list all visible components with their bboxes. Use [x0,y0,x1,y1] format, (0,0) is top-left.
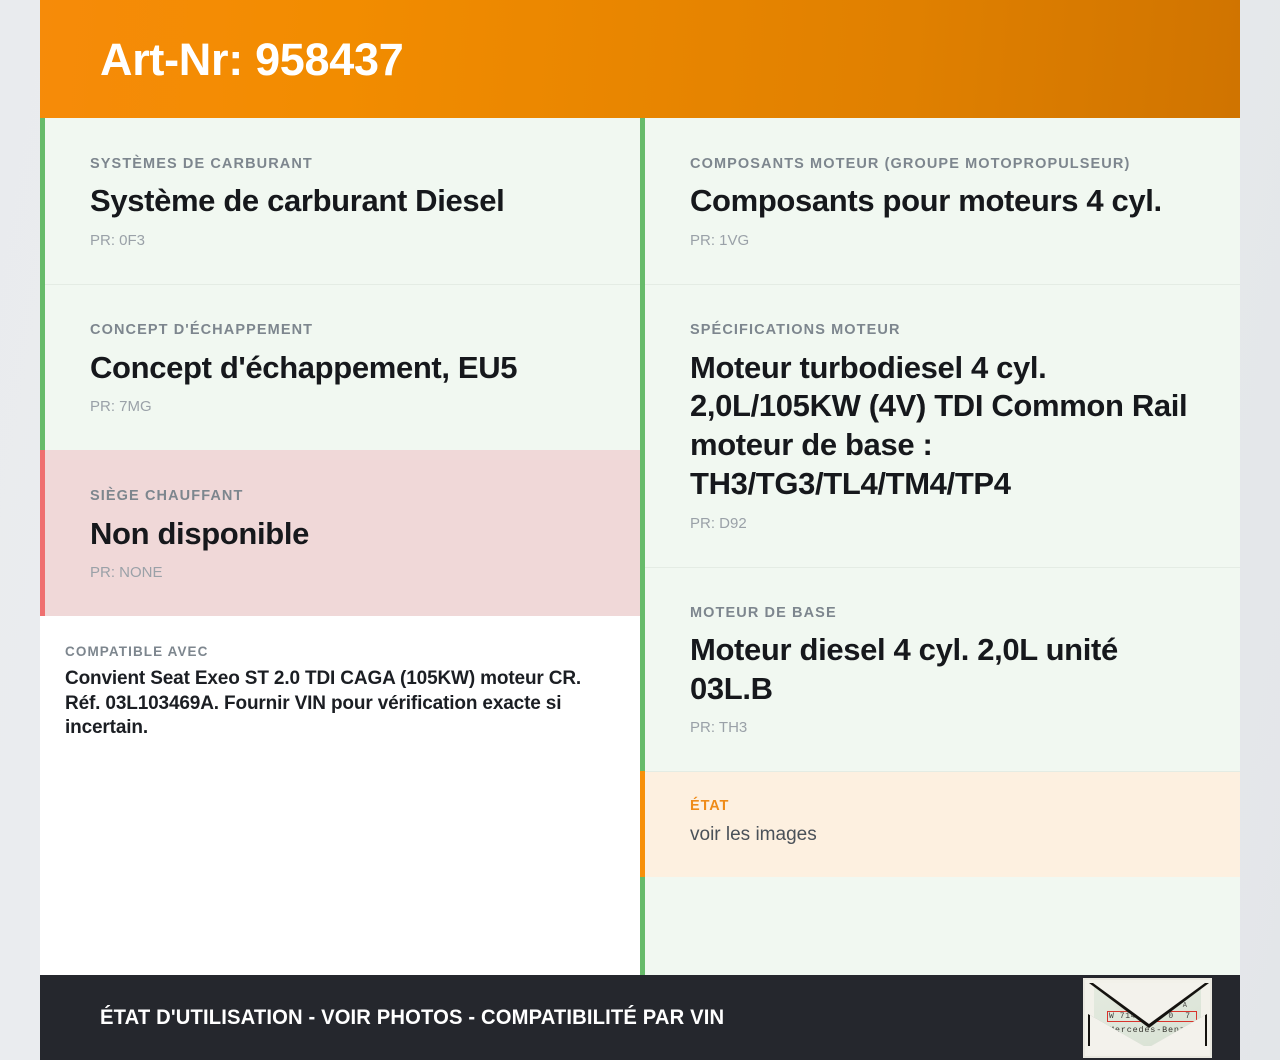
spec-card-pr-code: PR: 1VG [690,232,1194,250]
spec-card-condition[interactable]: ÉTAT voir les images [640,771,1240,876]
spec-card-engine-components[interactable]: COMPOSANTS MOTEUR (GROUPE MOTOPROPULSEUR… [640,118,1240,284]
spec-card-engine-specifications[interactable]: SPÉCIFICATIONS MOTEUR Moteur turbodiesel… [640,284,1240,566]
spec-card-label: COMPOSANTS MOTEUR (GROUPE MOTOPROPULSEUR… [690,156,1194,173]
right-column-filler [640,877,1240,975]
spec-card-exhaust-concept[interactable]: CONCEPT D'ÉCHAPPEMENT Concept d'échappem… [40,284,640,450]
spec-card-base-engine[interactable]: MOTEUR DE BASE Moteur diesel 4 cyl. 2,0L… [640,567,1240,772]
spec-card-label: SPÉCIFICATIONS MOTEUR [690,322,1194,339]
spec-card-label: MOTEUR DE BASE [690,605,1194,622]
spec-card-pr-code: PR: 7MG [90,398,594,416]
spec-card-heated-seat[interactable]: SIÈGE CHAUFFANT Non disponible PR: NONE [40,450,640,616]
spec-card-value: Moteur turbodiesel 4 cyl. 2,0L/105KW (4V… [690,349,1194,504]
left-column: SYSTÈMES DE CARBURANT Système de carbura… [40,118,640,975]
spec-card-label: SYSTÈMES DE CARBURANT [90,156,594,173]
spec-card-label: CONCEPT D'ÉCHAPPEMENT [90,322,594,339]
right-column: COMPOSANTS MOTEUR (GROUPE MOTOPROPULSEUR… [640,118,1240,975]
spec-card-value: Concept d'échappement, EU5 [90,349,594,388]
spec-card-pr-code: PR: NONE [90,564,594,582]
spec-card-value: Moteur diesel 4 cyl. 2,0L unité 03L.B [690,631,1194,709]
compatibility-label: COMPATIBLE AVEC [65,644,600,659]
envelope-flap-icon [1089,983,1209,1028]
listing-card: Art-Nr: 958437 SYSTÈMES DE CARBURANT Sys… [40,0,1240,1060]
spec-card-fuel-system[interactable]: SYSTÈMES DE CARBURANT Système de carbura… [40,118,640,284]
header-bar: Art-Nr: 958437 [40,0,1240,118]
spec-card-value: Système de carburant Diesel [90,182,594,221]
envelope-bottom-edge [1088,1046,1209,1054]
footer-bar: ÉTAT D'UTILISATION - VOIR PHOTOS - COMPA… [40,975,1240,1060]
compatibility-text: Convient Seat Exeo ST 2.0 TDI CAGA (105K… [65,667,600,740]
spec-card-label: SIÈGE CHAUFFANT [90,488,594,505]
condition-label: ÉTAT [690,798,1194,815]
spec-card-value: Non disponible [90,515,594,554]
left-column-filler [40,872,640,975]
compatibility-block: COMPATIBLE AVEC Convient Seat Exeo ST 2.… [40,616,640,871]
page-title: Art-Nr: 958437 [100,37,403,82]
vin-document-thumbnail[interactable]: Fahrgestellnr. H A W 71463J31 0 7 Merced… [1083,978,1212,1058]
footer-notice: ÉTAT D'UTILISATION - VOIR PHOTOS - COMPA… [100,1005,724,1030]
condition-value: voir les images [690,823,1194,847]
spec-card-pr-code: PR: TH3 [690,719,1194,737]
spec-card-value: Composants pour moteurs 4 cyl. [690,182,1194,221]
spec-columns: SYSTÈMES DE CARBURANT Système de carbura… [40,118,1240,975]
spec-card-pr-code: PR: D92 [690,515,1194,533]
spec-card-pr-code: PR: 0F3 [90,232,594,250]
